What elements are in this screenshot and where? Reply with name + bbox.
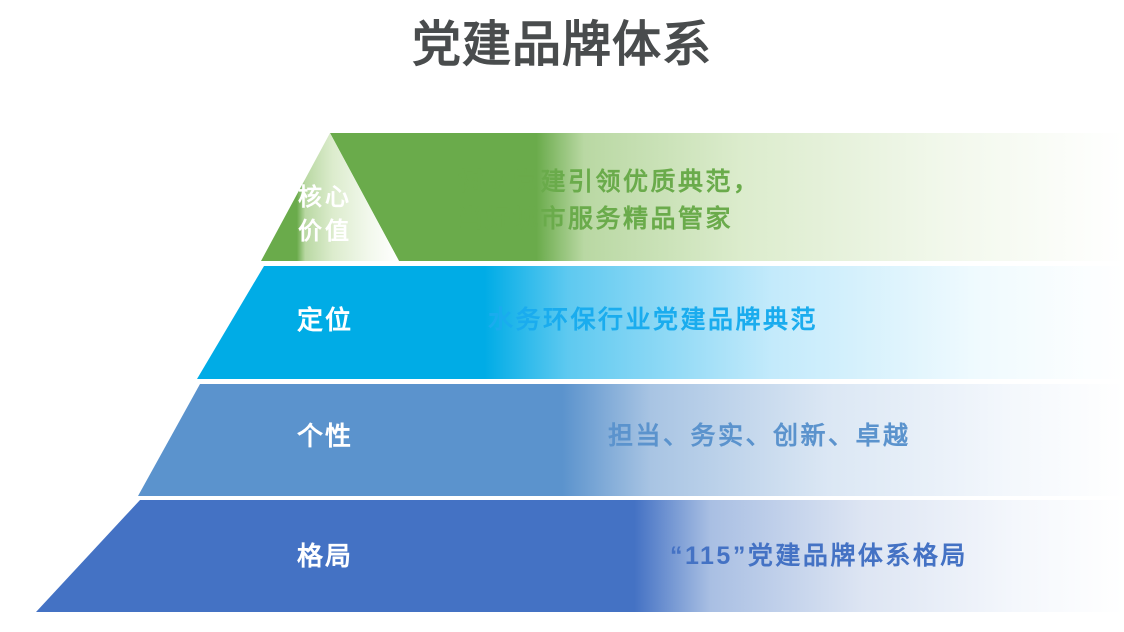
- pyramid-tier-1-label-line-2: 价值: [275, 215, 375, 249]
- pyramid-tier-2-description: 水务环保行业党建品牌典范: [488, 303, 818, 337]
- pyramid-tier-4-label: 格局: [275, 539, 375, 573]
- pyramid-tier-3-description: 担当、务实、创新、卓越: [608, 419, 911, 453]
- pyramid-tier-1-label: 核心 价值: [275, 181, 375, 249]
- pyramid-tier-2-label: 定位: [275, 303, 375, 337]
- pyramid-tier-1-label-line-1: 核心: [275, 181, 375, 215]
- slide-canvas: 党建品牌体系: [0, 0, 1124, 632]
- pyramid-tier-4-description: “115”党建品牌体系格局: [670, 539, 968, 573]
- pyramid-tier-1-description-line-1: 树立党建引领优质典范，: [458, 164, 761, 201]
- pyramid-tier-1-description: 树立党建引领优质典范， 当好城市服务精品管家: [458, 164, 761, 238]
- pyramid-tier-3-label: 个性: [275, 419, 375, 453]
- pyramid-tier-1-description-line-2: 当好城市服务精品管家: [458, 201, 761, 238]
